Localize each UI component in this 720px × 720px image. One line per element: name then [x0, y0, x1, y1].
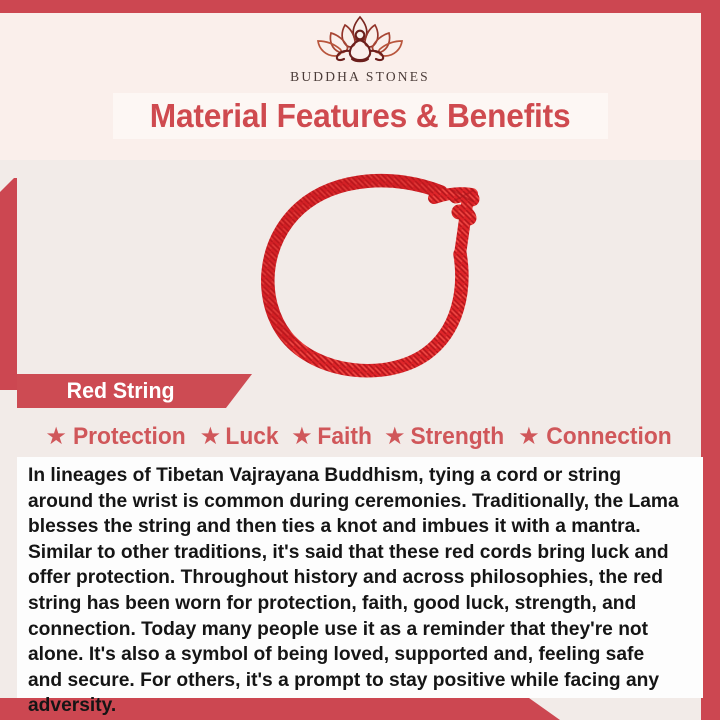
benefit-label: Protection: [73, 423, 186, 451]
brand-header: BUDDHA STONES: [0, 13, 720, 93]
frame-bar-right: [701, 0, 720, 720]
benefit-item-protection: ★ Protection: [41, 423, 192, 451]
benefit-label: Faith: [317, 423, 371, 451]
infographic-page: BUDDHA STONES Material Features & Benefi…: [0, 0, 720, 720]
benefit-item-connection: ★ Connection: [514, 423, 679, 451]
star-icon: ★: [384, 425, 406, 449]
title-banner: Material Features & Benefits: [113, 93, 608, 139]
frame-bar-top: [0, 0, 720, 13]
red-braided-string-bracelet-icon: [228, 150, 518, 386]
product-name-banner: Red String: [17, 374, 252, 408]
product-image: [228, 150, 518, 386]
description-text: In lineages of Tibetan Vajrayana Buddhis…: [28, 463, 679, 719]
description-panel: In lineages of Tibetan Vajrayana Buddhis…: [17, 457, 703, 698]
benefit-item-luck: ★ Luck: [196, 423, 285, 451]
star-icon: ★: [518, 425, 540, 449]
star-icon: ★: [291, 425, 313, 449]
lotus-meditation-icon: [301, 13, 419, 67]
star-icon: ★: [200, 425, 222, 449]
benefits-row: ★ Protection ★ Luck ★ Faith ★ Strength ★…: [17, 418, 703, 456]
frame-bar-left: [0, 178, 17, 390]
product-name: Red String: [67, 378, 175, 404]
page-title: Material Features & Benefits: [150, 97, 571, 135]
benefit-label: Luck: [225, 423, 278, 451]
brand-name: BUDDHA STONES: [290, 69, 430, 85]
star-icon: ★: [45, 425, 67, 449]
benefit-label: Strength: [411, 423, 505, 451]
benefit-item-strength: ★ Strength: [380, 423, 511, 451]
benefit-label: Connection: [546, 423, 671, 451]
benefit-item-faith: ★ Faith: [287, 423, 377, 451]
